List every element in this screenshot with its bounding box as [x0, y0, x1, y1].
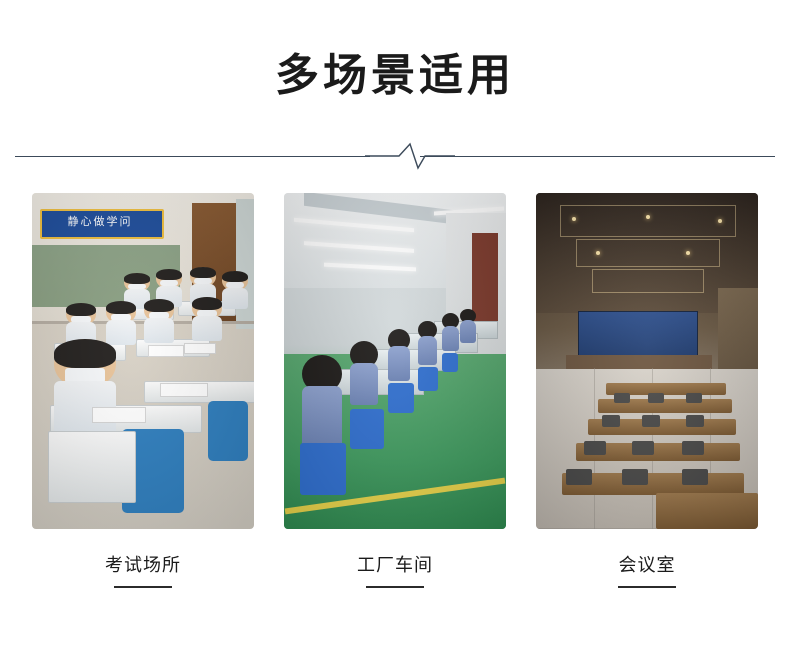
divider: [15, 141, 775, 171]
photo-vignette: [284, 193, 506, 529]
scene-photo-meeting: [536, 193, 758, 529]
photo-vignette: [32, 193, 254, 529]
scene-card-factory: 工厂车间: [284, 193, 506, 588]
scene-caption: 考试场所: [32, 551, 254, 577]
photo-vignette: [536, 193, 758, 529]
scene-photo-factory: [284, 193, 506, 529]
divider-line-right: [420, 156, 775, 157]
scene-photo-exam: 静心做学问: [32, 193, 254, 529]
scene-card-list: 静心做学问: [0, 193, 790, 588]
caption-underline: [366, 586, 424, 588]
divider-line-left: [15, 156, 370, 157]
page-title: 多场景适用: [0, 0, 790, 103]
caption-underline: [618, 586, 676, 588]
caption-underline: [114, 586, 172, 588]
promo-page: 多场景适用 静心做学问: [0, 0, 790, 655]
scene-card-meeting: 会议室: [536, 193, 758, 588]
scene-caption: 会议室: [536, 551, 758, 577]
scene-card-exam: 静心做学问: [32, 193, 254, 588]
scene-caption: 工厂车间: [284, 551, 506, 577]
pulse-line-icon: [365, 141, 455, 171]
